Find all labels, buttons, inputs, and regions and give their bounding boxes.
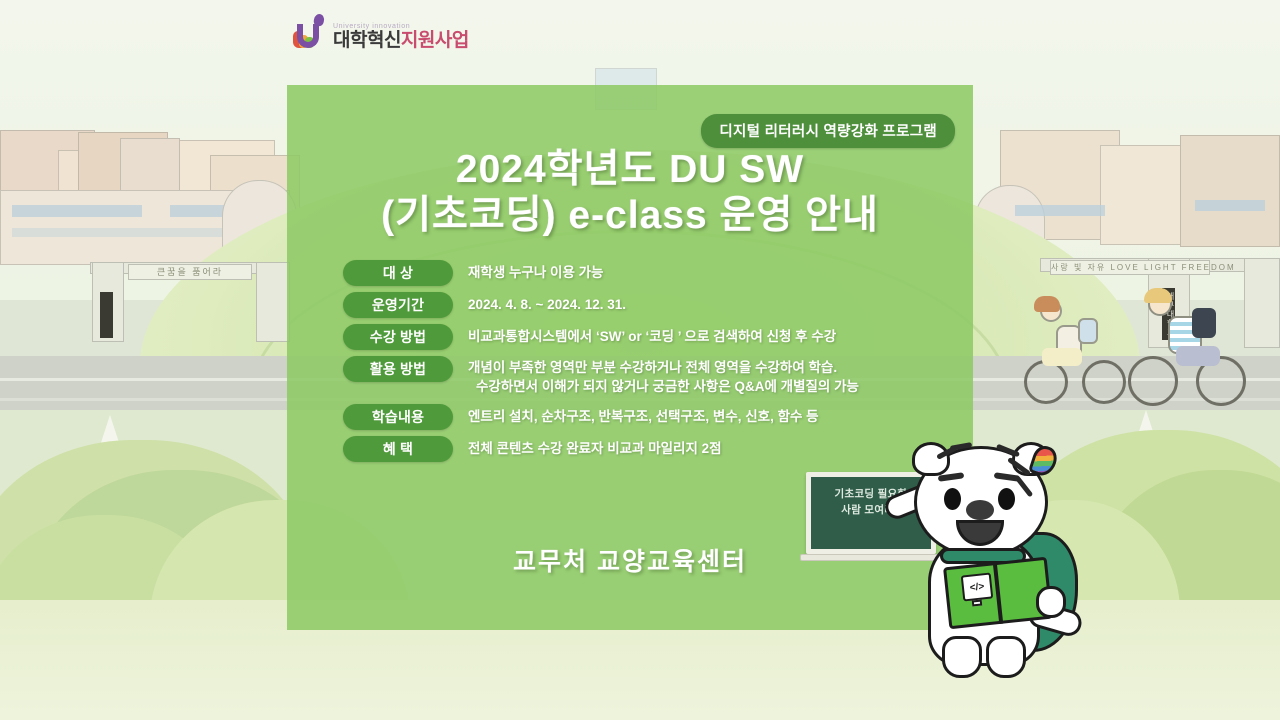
title-line-2: (기초코딩) e-class 운영 안내 xyxy=(287,193,973,239)
university-innovation-logo: University innovation 대학혁신지원사업 xyxy=(293,14,469,50)
info-row: 수강 방법 비교과통합시스템에서 ‘SW’ or ‘코딩 ’ 으로 검색하여 신… xyxy=(343,324,963,350)
computer-code-icon-stand xyxy=(972,599,983,606)
left-gate-vertical-plate xyxy=(100,292,113,338)
row-label-curriculum: 학습내용 xyxy=(343,404,453,430)
mascot-ear xyxy=(912,442,950,476)
mascot-leg xyxy=(986,636,1026,678)
right-gate-sign: 사랑 빛 자유 LOVE LIGHT FREEDOM xyxy=(1050,260,1210,275)
row-value-curriculum: 엔트리 설치, 순차구조, 반복구조, 선택구조, 변수, 신호, 함수 등 xyxy=(453,404,819,430)
row-label-usage-method: 활용 방법 xyxy=(343,356,453,382)
poster-title: 2024학년도 DU SW (기초코딩) e-class 운영 안내 xyxy=(287,147,973,239)
usage-line-2: 수강하면서 이해가 되지 않거나 궁금한 사항은 Q&A에 개별질의 가능 xyxy=(468,377,859,396)
info-row: 학습내용 엔트리 설치, 순차구조, 반복구조, 선택구조, 변수, 신호, 함… xyxy=(343,404,963,430)
usage-line-1: 개념이 부족한 영역만 부분 수강하거나 전체 영역을 수강하여 학습. xyxy=(468,360,837,375)
info-rows: 대 상 재학생 누구나 이용 가능 운영기간 2024. 4. 8. ~ 202… xyxy=(343,260,963,468)
info-row: 운영기간 2024. 4. 8. ~ 2024. 12. 31. xyxy=(343,292,963,318)
row-label-target: 대 상 xyxy=(343,260,453,286)
row-value-target: 재학생 누구나 이용 가능 xyxy=(453,260,603,286)
mascot-eye xyxy=(998,488,1015,510)
background-building xyxy=(1180,135,1280,247)
row-value-enrollment-method: 비교과통합시스템에서 ‘SW’ or ‘코딩 ’ 으로 검색하여 신청 후 수강 xyxy=(453,324,836,350)
program-badge: 디지털 리터러시 역량강화 프로그램 xyxy=(701,114,955,148)
left-gate-pillar xyxy=(256,262,290,342)
info-row: 대 상 재학생 누구나 이용 가능 xyxy=(343,260,963,286)
left-gate-sign: 큰꿈을 품어라 xyxy=(128,264,252,280)
building-window xyxy=(1015,205,1105,216)
row-value-benefit: 전체 콘텐츠 수강 완료자 비교과 마일리지 2점 xyxy=(453,436,722,462)
mascot-nose xyxy=(966,500,994,520)
info-row: 활용 방법 개념이 부족한 영역만 부분 수강하거나 전체 영역을 수강하여 학… xyxy=(343,356,963,396)
logo-english-text: University innovation xyxy=(333,23,469,30)
row-value-period: 2024. 4. 8. ~ 2024. 12. 31. xyxy=(453,292,626,318)
building-window xyxy=(1195,200,1265,211)
building-window xyxy=(12,205,142,217)
right-gate-pillar xyxy=(1244,258,1280,348)
row-label-period: 운영기간 xyxy=(343,292,453,318)
logo-korean-text: 대학혁신지원사업 xyxy=(333,31,469,50)
mascot-eye xyxy=(944,488,961,510)
info-row: 혜 택 전체 콘텐츠 수강 완료자 비교과 마일리지 2점 xyxy=(343,436,963,462)
row-value-usage-method: 개념이 부족한 영역만 부분 수강하거나 전체 영역을 수강하여 학습. 수강하… xyxy=(453,356,859,396)
mascot-leg xyxy=(942,636,982,678)
u-logo-mark-icon xyxy=(293,14,327,50)
row-label-benefit: 혜 택 xyxy=(343,436,453,462)
mascot-hand xyxy=(1036,586,1066,618)
computer-code-icon: </> xyxy=(961,573,994,602)
white-tiger-mascot: </> xyxy=(900,440,1130,710)
title-line-1: 2024학년도 DU SW xyxy=(287,147,973,193)
row-label-enrollment-method: 수강 방법 xyxy=(343,324,453,350)
